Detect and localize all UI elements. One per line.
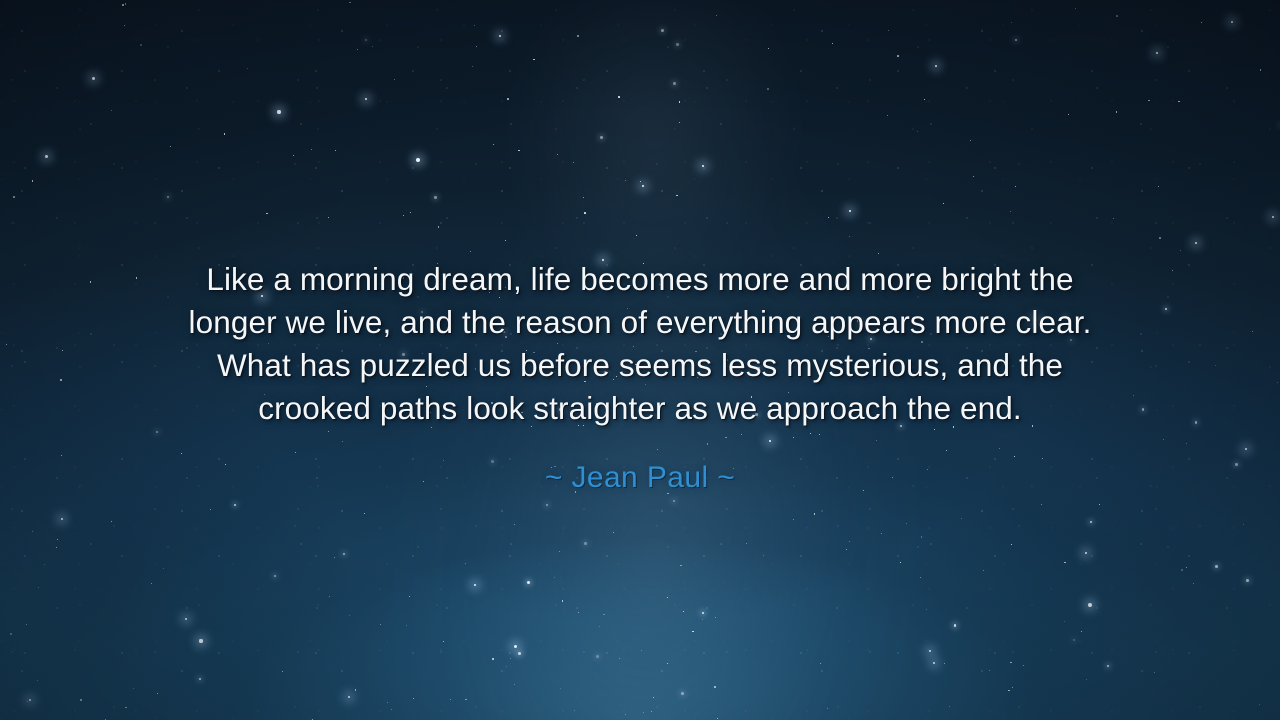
quote-image-canvas: Like a morning dream, life becomes more … — [0, 0, 1280, 720]
quote-block: Like a morning dream, life becomes more … — [0, 258, 1280, 498]
quote-attribution: ~ Jean Paul ~ — [60, 458, 1220, 498]
quote-line: What has puzzled us before seems less my… — [60, 344, 1220, 387]
quote-line: Like a morning dream, life becomes more … — [60, 258, 1220, 301]
quote-line: crooked paths look straighter as we appr… — [60, 387, 1220, 430]
quote-line: longer we live, and the reason of everyt… — [60, 301, 1220, 344]
